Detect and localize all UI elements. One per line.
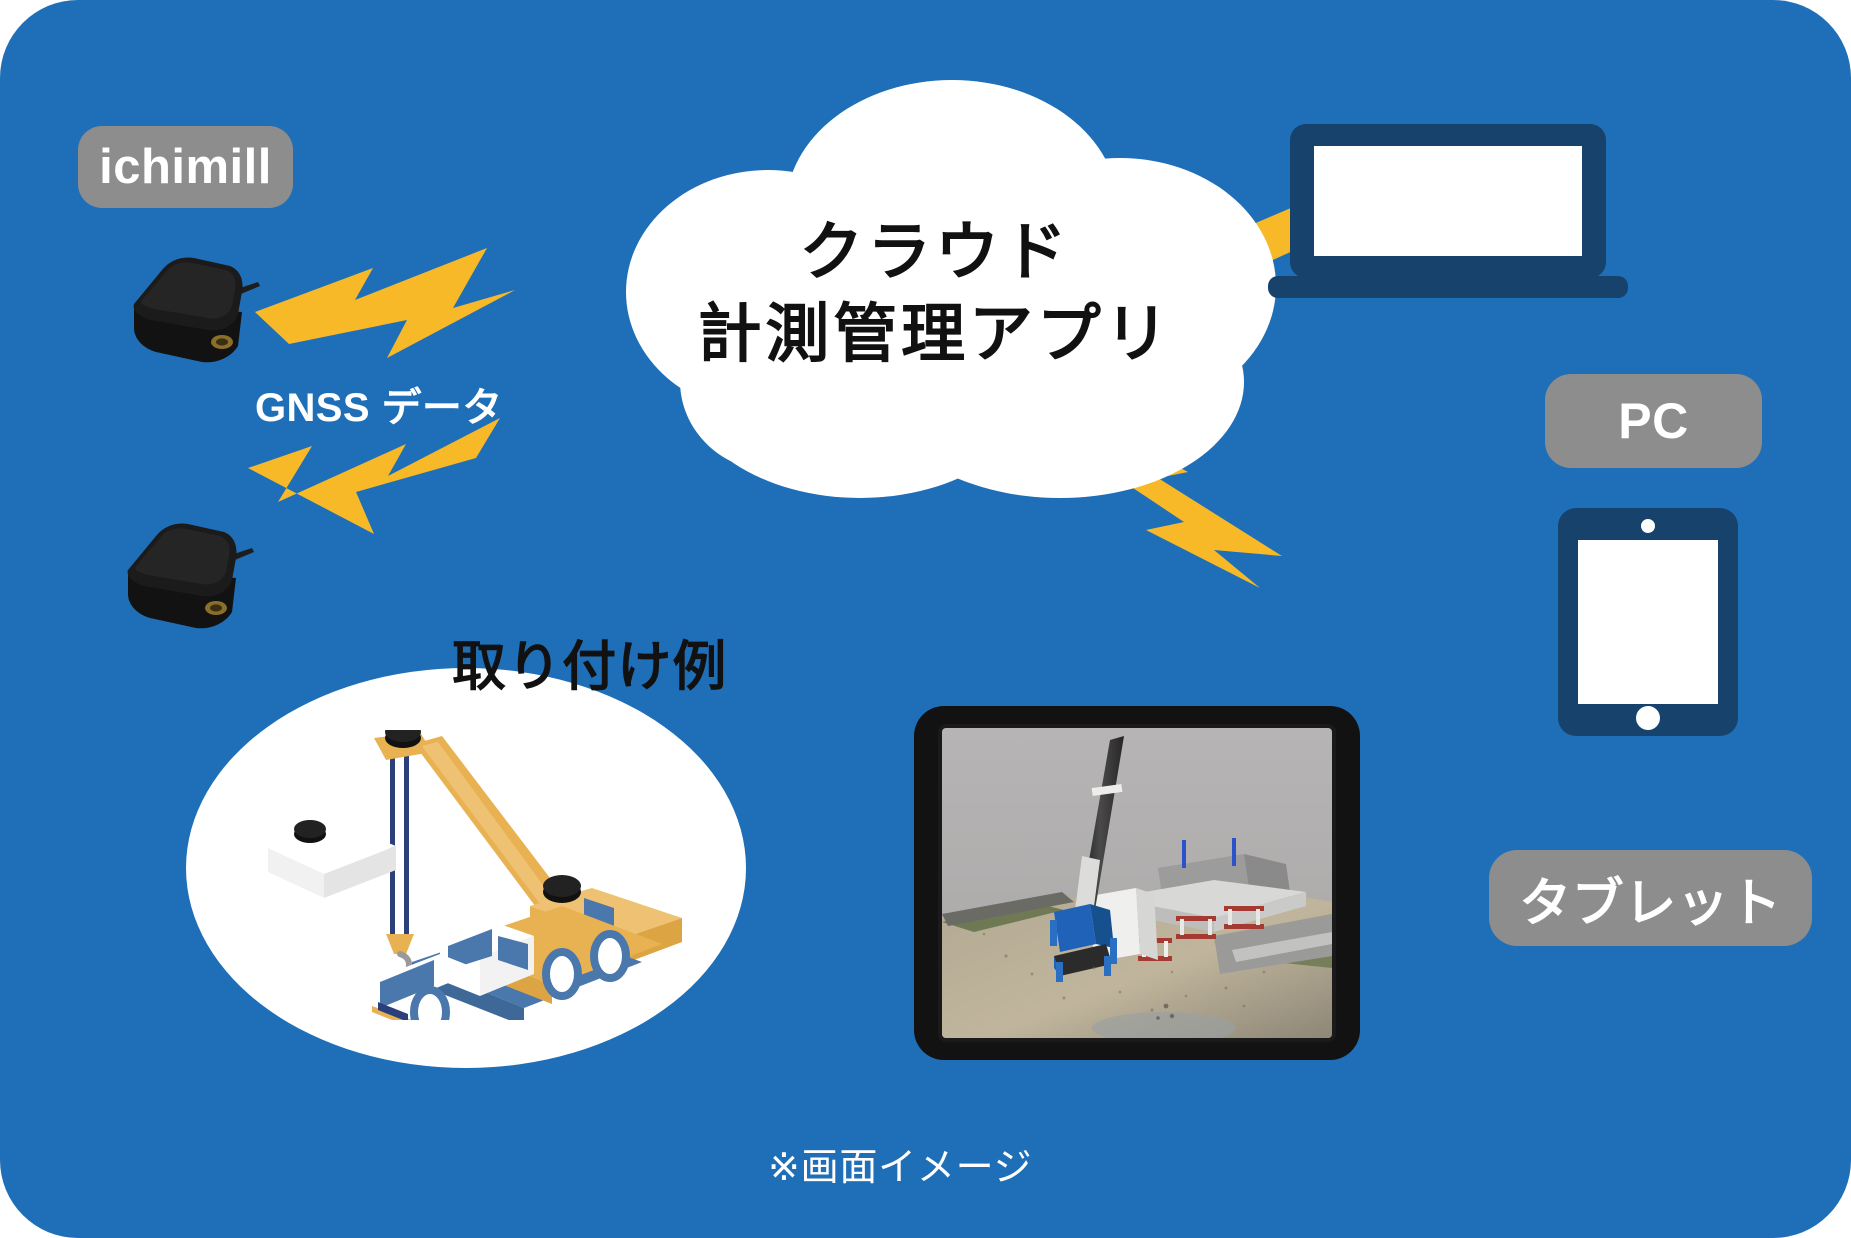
badge-pc: PC [1545, 374, 1762, 468]
gnss-receiver-icon [120, 518, 260, 630]
laptop-icon [1268, 124, 1628, 306]
gnss-data-label: GNSS データ [255, 375, 503, 433]
cloud-icon [560, 80, 1300, 500]
badge-ichimill-label: ichimill [99, 139, 272, 195]
badge-pc-label: PC [1618, 392, 1688, 450]
gnss-receiver-icon [126, 252, 266, 364]
concrete-block-icon [262, 812, 402, 908]
install-example-label: 取り付け例 [452, 622, 727, 701]
lightning-bolt-icon [238, 418, 500, 534]
badge-tablet-label: タブレット [1519, 861, 1782, 936]
tablet-icon [1558, 508, 1738, 736]
sensor-on-block [294, 820, 326, 843]
screen-image-caption: ※画面イメージ [768, 1136, 1032, 1191]
badge-tablet: タブレット [1489, 850, 1812, 946]
tablet-camera-dot [1641, 519, 1655, 533]
diagram-canvas: クラウド 計測管理アプリ ichimill GNSS データ [0, 0, 1851, 1238]
point-cloud-site-photo [942, 728, 1332, 1044]
badge-ichimill: ichimill [78, 126, 293, 208]
blue-panel: クラウド 計測管理アプリ ichimill GNSS データ [0, 0, 1851, 1238]
sensor-on-cab-roof [543, 875, 581, 903]
lightning-bolt-icon [255, 248, 515, 358]
tablet-home-button [1636, 706, 1660, 730]
tablet-screenshot-mock [914, 706, 1360, 1060]
